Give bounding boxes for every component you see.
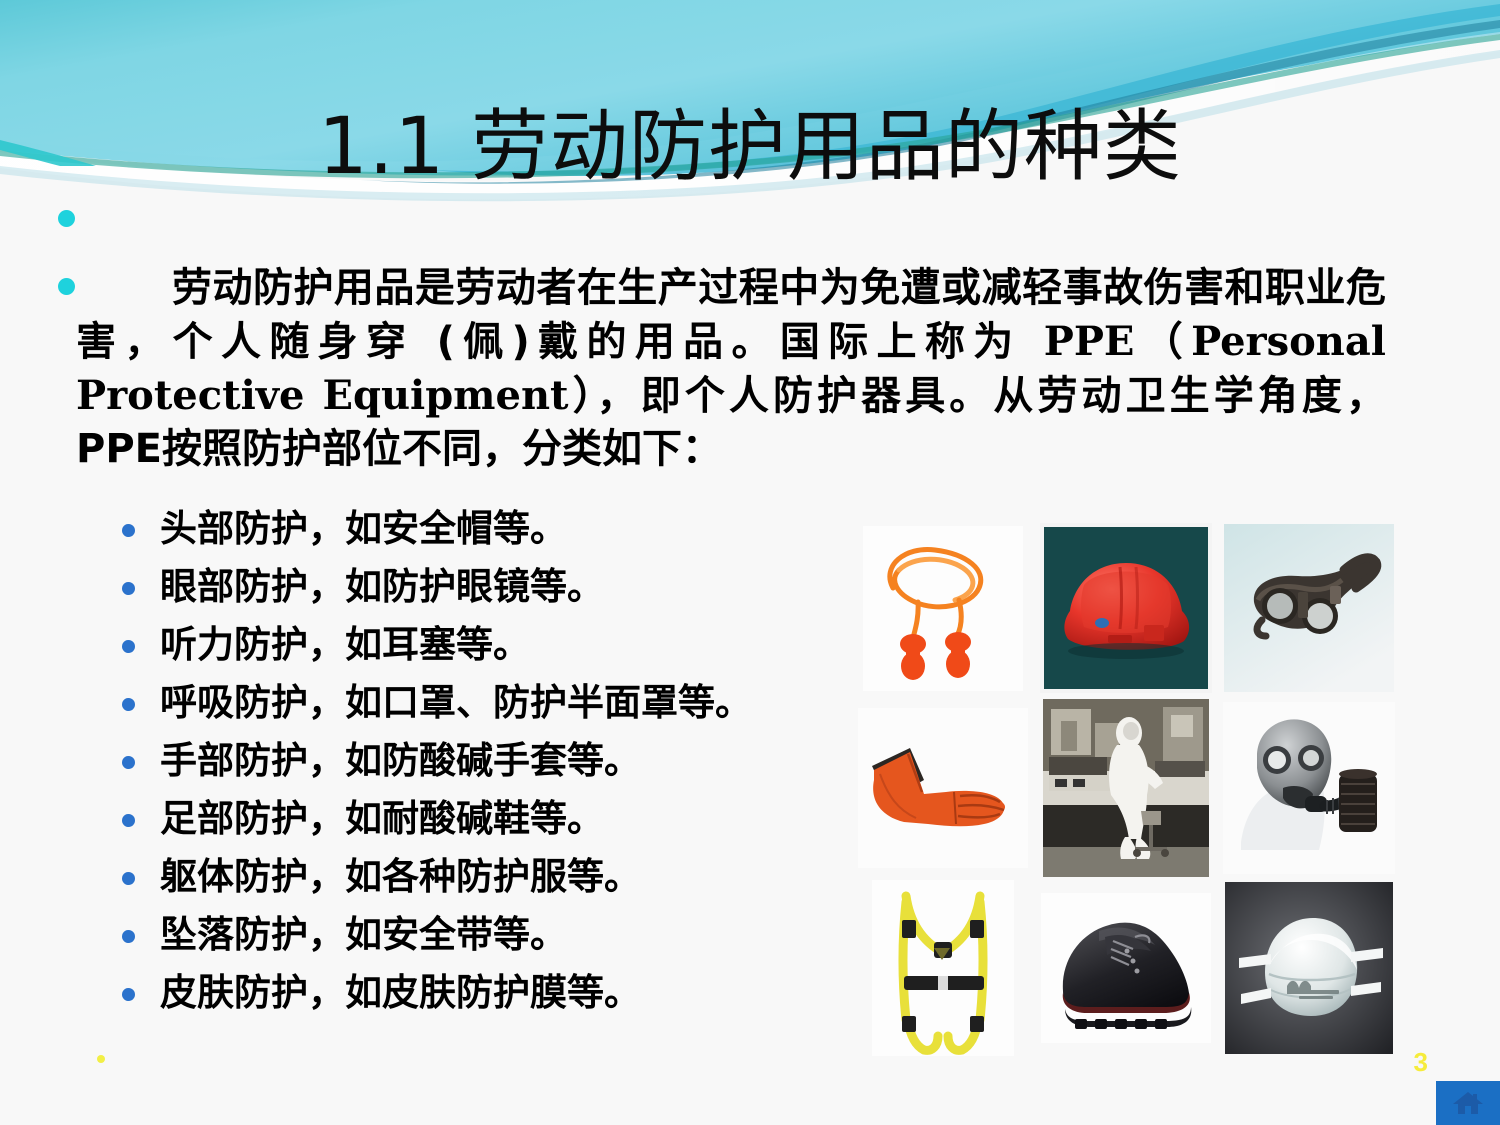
list-item: 眼部防护，如防护眼镜等。 <box>112 558 852 616</box>
bullet-dot-icon <box>122 640 135 653</box>
list-item-label: 头部防护，如安全帽等。 <box>160 507 567 550</box>
list-item-label: 躯体防护，如各种防护服等。 <box>160 855 641 898</box>
list-item: 呼吸防护，如口罩、防护半面罩等。 <box>112 674 852 732</box>
bullet-dot-icon <box>122 988 135 1001</box>
list-item-label: 眼部防护，如防护眼镜等。 <box>160 565 604 608</box>
welding-goggles-image <box>1217 518 1400 698</box>
safety-shoe-image <box>1035 878 1218 1058</box>
list-item: 听力防护，如耳塞等。 <box>112 616 852 674</box>
bullet-dot-icon <box>122 756 135 769</box>
list-item-label: 皮肤防护，如皮肤防护膜等。 <box>160 971 641 1014</box>
list-item: 手部防护，如防酸碱手套等。 <box>112 732 852 790</box>
list-item-label: 足部防护，如耐酸碱鞋等。 <box>160 797 604 840</box>
ppe-category-list: 头部防护，如安全帽等。 眼部防护，如防护眼镜等。 听力防护，如耳塞等。 呼吸防护… <box>112 500 852 1022</box>
paragraph-part-2: （ <box>1134 319 1191 365</box>
list-item: 坠落防护，如安全带等。 <box>112 906 852 964</box>
page-number: 3 <box>1414 1047 1428 1078</box>
corner-dot-marker <box>97 1055 105 1063</box>
bullet-dot-icon <box>122 814 135 827</box>
bullet-dot-icon <box>122 930 135 943</box>
list-item-label: 听力防护，如耳塞等。 <box>160 623 530 666</box>
list-item: 皮肤防护，如皮肤防护膜等。 <box>112 964 852 1022</box>
dust-respirator-image <box>1217 878 1400 1058</box>
list-item: 足部防护，如耐酸碱鞋等。 <box>112 790 852 848</box>
page-title: 1.1 劳动防护用品的种类 <box>0 104 1500 190</box>
bullet-dot-paragraph <box>58 278 75 295</box>
bullet-dot-icon <box>122 582 135 595</box>
bullet-dot-icon <box>122 872 135 885</box>
hard-hat-image <box>1035 518 1218 698</box>
bullet-dot-icon <box>122 698 135 711</box>
list-item: 躯体防护，如各种防护服等。 <box>112 848 852 906</box>
list-item-label: 呼吸防护，如口罩、防护半面罩等。 <box>160 681 752 724</box>
ppe-image-grid <box>852 518 1400 1058</box>
presentation-slide: 1.1 劳动防护用品的种类 劳动防护用品是劳动者在生产过程中为免遭或减轻事故伤害… <box>0 0 1500 1125</box>
list-item: 头部防护，如安全帽等。 <box>112 500 852 558</box>
list-item-label: 手部防护，如防酸碱手套等。 <box>160 739 641 782</box>
gauntlet-glove-image <box>852 698 1035 878</box>
safety-harness-image <box>852 878 1035 1058</box>
earplugs-image <box>852 518 1035 698</box>
list-item-label: 坠落防护，如安全带等。 <box>160 913 567 956</box>
home-button[interactable] <box>1436 1081 1500 1125</box>
bullet-dot-icon <box>122 524 135 537</box>
bullet-dot-empty <box>58 210 75 227</box>
home-icon <box>1451 1089 1485 1117</box>
gas-mask-image <box>1217 698 1400 878</box>
protective-suit-image <box>1035 698 1218 878</box>
ppe-abbreviation: PPE <box>1044 318 1135 365</box>
intro-paragraph: 劳动防护用品是劳动者在生产过程中为免遭或减轻事故伤害和职业危害，个人随身穿 (佩… <box>76 262 1386 476</box>
